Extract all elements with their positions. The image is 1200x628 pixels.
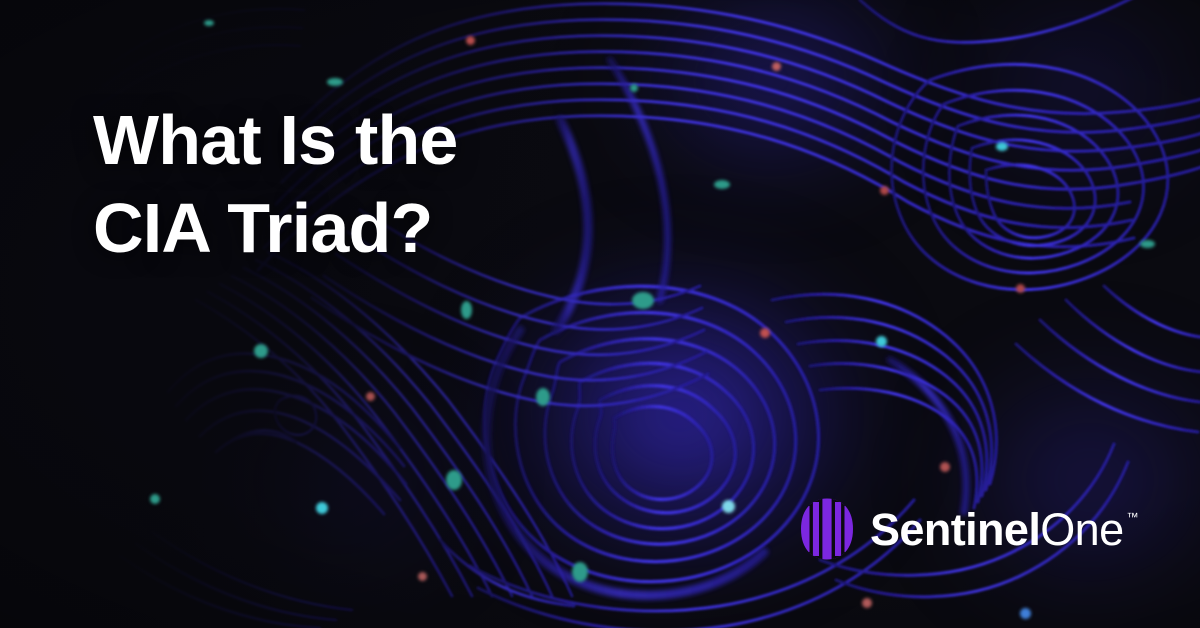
wordmark-sentinel: Sentinel (870, 507, 1040, 552)
sentinelone-shield-mark (800, 498, 854, 560)
sentinelone-logo[interactable]: SentinelOne™ (800, 498, 1138, 560)
wordmark-one: One (1040, 507, 1123, 552)
trademark-symbol: ™ (1127, 511, 1138, 523)
sentinelone-wordmark: SentinelOne™ (870, 507, 1138, 552)
page-title: What Is the CIA Triad? (93, 96, 458, 272)
og-banner: What Is the CIA Triad? (0, 0, 1200, 628)
